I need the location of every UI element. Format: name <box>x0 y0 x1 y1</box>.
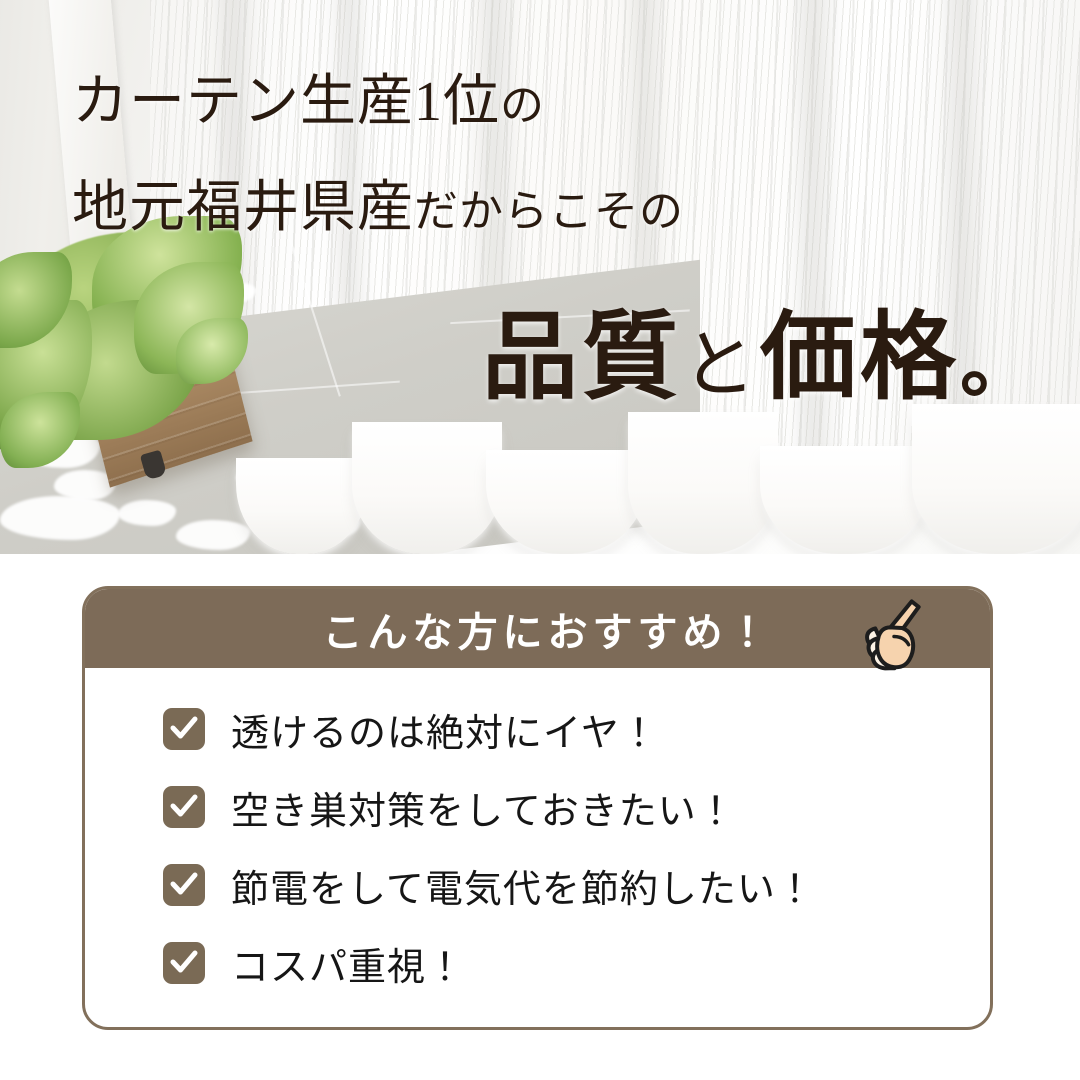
check-icon <box>163 942 205 984</box>
list-item-label: コスパ重視！ <box>231 936 465 991</box>
card-header: こんな方におすすめ！ <box>85 589 990 668</box>
list-item-label: 空き巣対策をしておきたい！ <box>231 780 736 835</box>
curtain-hem <box>352 422 502 554</box>
list-item: 透けるのは絶対にイヤ！ <box>163 690 990 768</box>
pointing-up-hand-icon <box>851 593 943 671</box>
recommendation-card: こんな方におすすめ！ <box>82 586 993 1030</box>
check-icon <box>163 708 205 750</box>
sunlight-patch <box>176 520 250 550</box>
promo-page: カーテン生産1位の 地元福井県産だからこその 品質と価格。 こんな方におすすめ！ <box>0 0 1080 1080</box>
sunlight-patch <box>118 500 176 526</box>
list-item: 節電をして電気代を節約したい！ <box>163 846 990 924</box>
card-header-title: こんな方におすすめ！ <box>323 600 773 658</box>
list-item-label: 節電をして電気代を節約したい！ <box>231 858 815 913</box>
check-icon <box>163 864 205 906</box>
list-item-label: 透けるのは絶対にイヤ！ <box>231 702 659 757</box>
curtain-hem <box>628 412 778 554</box>
list-item: コスパ重視！ <box>163 924 990 1002</box>
hero-photo: カーテン生産1位の 地元福井県産だからこその 品質と価格。 <box>0 0 1080 554</box>
card-body: 透けるのは絶対にイヤ！ 空き巣対策をしておきたい！ 節電をして電気代を節約したい… <box>85 668 990 1002</box>
sunlight-patch <box>0 496 120 540</box>
check-icon <box>163 786 205 828</box>
list-item: 空き巣対策をしておきたい！ <box>163 768 990 846</box>
curtain-hem <box>912 404 1080 554</box>
